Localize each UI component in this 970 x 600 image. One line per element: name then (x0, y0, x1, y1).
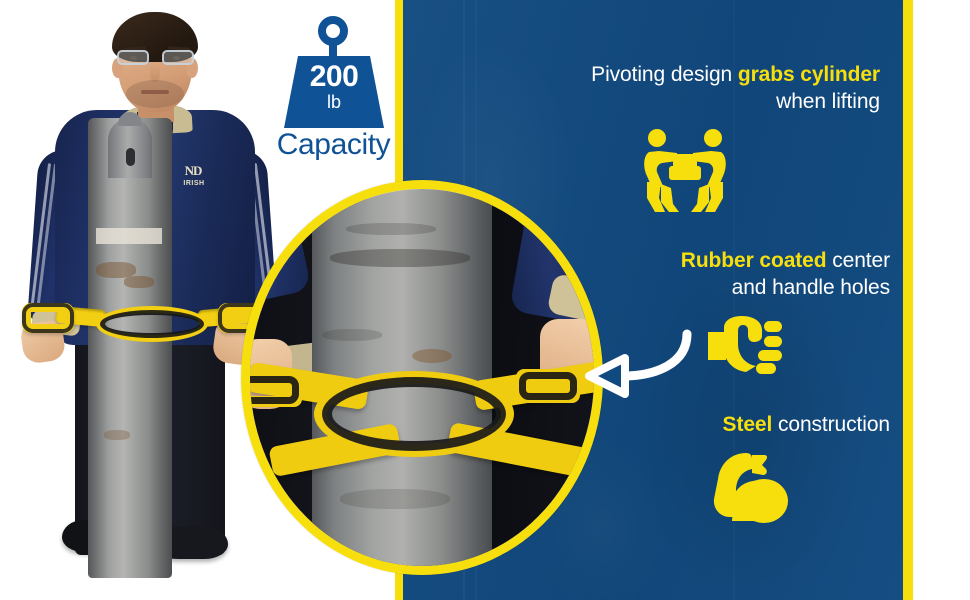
photo-mouth (141, 90, 169, 94)
divider-rule-right (903, 0, 913, 600)
feature-steel-headline: Steel construction (610, 412, 890, 439)
two-people-lifting-icon (639, 128, 731, 214)
cylinder-rust (124, 276, 154, 288)
feature-lifting-headline: Pivoting design grabs cylinder when lift… (490, 62, 880, 116)
feature-rubber-headline: Rubber coated center and handle holes (600, 248, 890, 302)
gripping-fist-icon (706, 314, 784, 376)
cylinder-rust (104, 430, 130, 440)
gas-cylinder-valve-hole (126, 148, 135, 166)
cylinder-lifter-device (22, 300, 272, 342)
flexed-bicep-icon (708, 451, 792, 529)
feature-lifting-emphasis: grabs cylinder (738, 63, 880, 86)
gas-cylinder-label (96, 228, 162, 244)
lifter-center-ring (96, 306, 208, 342)
feature-rubber-line1-normal: center (827, 249, 891, 272)
capacity-badge: 200 lb Capacity (266, 16, 401, 166)
feature-steel-construction: Steel construction (610, 412, 890, 529)
main-photo-alt: Worker in navy ND Irish jacket and safet… (0, 0, 1, 1)
feature-steel-emphasis: Steel (723, 413, 773, 436)
inset-handle-hole-left (241, 373, 302, 407)
gas-cylinder-shading (88, 118, 172, 578)
lifter-handle-left (22, 303, 74, 333)
capacity-label: Capacity (266, 128, 401, 162)
inset-cylinder-grime (346, 223, 436, 235)
zoom-inset-circle: Close-up circular inset of the yellow cy… (241, 180, 603, 575)
feature-rubber-line2: and handle holes (732, 276, 890, 299)
feature-steel-line1-normal: construction (772, 413, 890, 436)
feature-lifting-line1-normal: Pivoting design (591, 63, 738, 86)
inset-rubber-coated-center (322, 377, 506, 451)
feature-rubber-emphasis: Rubber coated (681, 249, 827, 272)
feature-lifting-line2: when lifting (776, 90, 880, 113)
capacity-unit: lb (284, 92, 384, 113)
inset-cylinder-grime (330, 249, 470, 267)
safety-glasses-icon (117, 50, 194, 65)
capacity-value: 200 (284, 60, 384, 94)
inset-handle-hole-right (516, 369, 580, 403)
inset-cylinder-lifter (241, 339, 603, 499)
infographic-canvas: Worker in navy ND Irish jacket and safet… (0, 0, 970, 600)
feature-steel-icon-wrap (610, 451, 890, 529)
jacket-logo-irish: IRISH (172, 180, 216, 187)
curved-arrow-left-icon (575, 318, 695, 398)
photo-chin-shadow (126, 80, 184, 108)
